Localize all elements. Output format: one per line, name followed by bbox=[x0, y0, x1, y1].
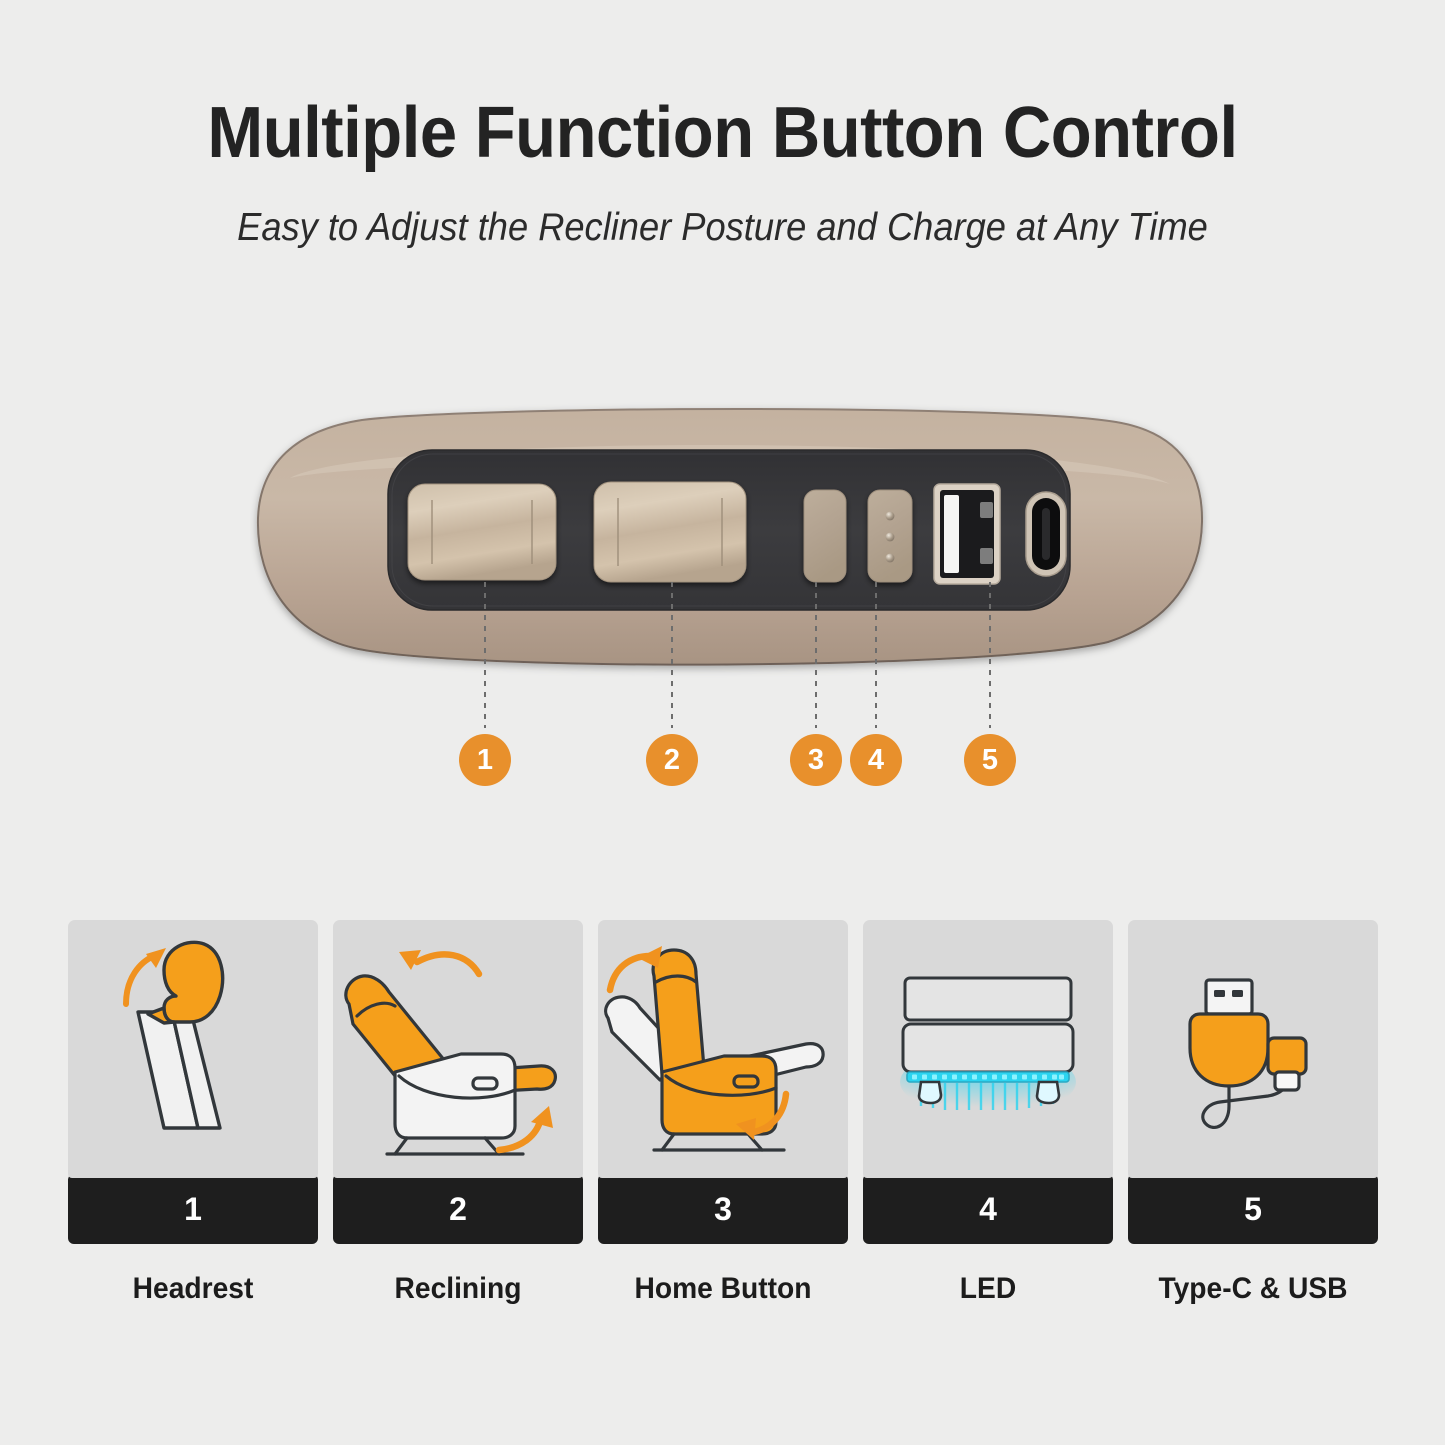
callout-group: 1 2 3 4 5 bbox=[0, 560, 1445, 810]
card-label-2: Reclining bbox=[341, 1272, 576, 1306]
card-label-1: Headrest bbox=[76, 1272, 311, 1306]
callout-badge-1: 1 bbox=[459, 734, 511, 786]
callout-badge-2: 2 bbox=[646, 734, 698, 786]
callout-badge-4-number: 4 bbox=[868, 746, 884, 775]
card-number-bar-5: 5 bbox=[1128, 1174, 1378, 1244]
card-number-3: 3 bbox=[714, 1191, 732, 1228]
card-number-bar-2: 2 bbox=[333, 1174, 583, 1244]
card-art-3 bbox=[598, 920, 848, 1178]
callout-badge-3-number: 3 bbox=[808, 746, 824, 775]
card-label-5: Type-C & USB bbox=[1136, 1272, 1371, 1306]
card-label-3: Home Button bbox=[606, 1272, 841, 1306]
callout-badge-5-number: 5 bbox=[982, 746, 998, 775]
card-number-1: 1 bbox=[184, 1191, 202, 1228]
callout-badge-5: 5 bbox=[964, 734, 1016, 786]
feature-card-type-c-usb[interactable]: 5 Type-C & USB bbox=[1128, 920, 1378, 1306]
card-art-4 bbox=[863, 920, 1113, 1178]
card-number-bar-3: 3 bbox=[598, 1174, 848, 1244]
feature-card-led[interactable]: 4 LED bbox=[863, 920, 1113, 1306]
card-art-2 bbox=[333, 920, 583, 1178]
page-title: Multiple Function Button Control bbox=[51, 92, 1395, 174]
card-label-4: LED bbox=[871, 1272, 1106, 1306]
page-subtitle: Easy to Adjust the Recliner Posture and … bbox=[51, 206, 1395, 250]
card-art-1 bbox=[68, 920, 318, 1178]
sofa-led-underglow-icon bbox=[863, 920, 1113, 1178]
card-number-5: 5 bbox=[1244, 1191, 1262, 1228]
callout-badge-4: 4 bbox=[850, 734, 902, 786]
card-art-5 bbox=[1128, 920, 1378, 1178]
recliner-reclining-icon bbox=[333, 920, 583, 1178]
card-number-2: 2 bbox=[449, 1191, 467, 1228]
feature-card-headrest[interactable]: 1 Headrest bbox=[68, 920, 318, 1306]
callout-badge-3: 3 bbox=[790, 734, 842, 786]
feature-card-home-button[interactable]: 3 Home Button bbox=[598, 920, 848, 1306]
headrest-adjust-icon bbox=[68, 920, 318, 1178]
usb-cable-icon bbox=[1128, 920, 1378, 1178]
card-number-bar-4: 4 bbox=[863, 1174, 1113, 1244]
card-number-4: 4 bbox=[979, 1191, 997, 1228]
card-number-bar-1: 1 bbox=[68, 1174, 318, 1244]
callout-badge-2-number: 2 bbox=[664, 746, 680, 775]
callout-badge-1-number: 1 bbox=[477, 746, 493, 775]
feature-card-reclining[interactable]: 2 Reclining bbox=[333, 920, 583, 1306]
feature-card-strip: 1 Headrest bbox=[68, 920, 1378, 1320]
recliner-home-position-icon bbox=[598, 920, 848, 1178]
